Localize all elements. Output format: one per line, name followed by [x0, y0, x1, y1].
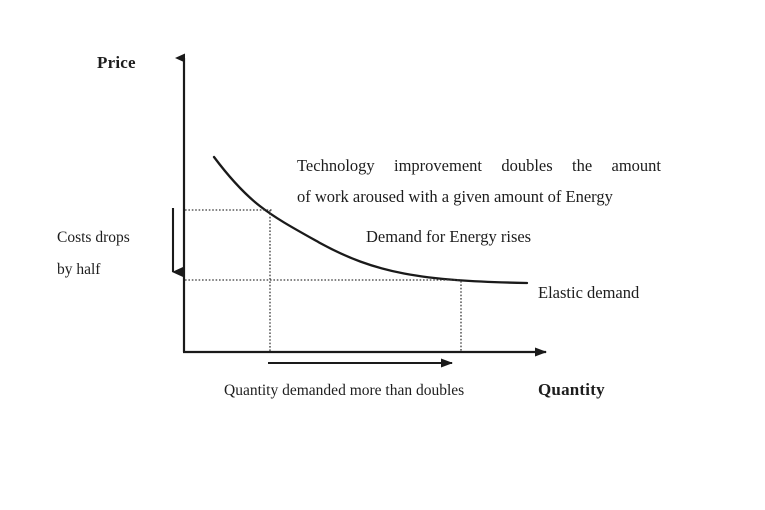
elastic-demand-label: Elastic demand — [538, 285, 639, 302]
quantity-axis-label: Quantity — [538, 381, 605, 398]
elastic-demand-curve — [214, 157, 527, 283]
demand-curve-figure — [0, 0, 765, 510]
annotation-line-2: of work aroused with a given amount of E… — [297, 189, 613, 206]
costs-drop-label-line-2: by half — [57, 262, 100, 278]
price-axis-label: Price — [97, 54, 136, 71]
costs-drop-label-line-1: Costs drops — [57, 230, 130, 246]
annotation-line-3: Demand for Energy rises — [366, 229, 531, 246]
quantity-demanded-caption: Quantity demanded more than doubles — [224, 383, 464, 399]
annotation-line-1: Technology improvement doubles the amoun… — [297, 158, 661, 175]
